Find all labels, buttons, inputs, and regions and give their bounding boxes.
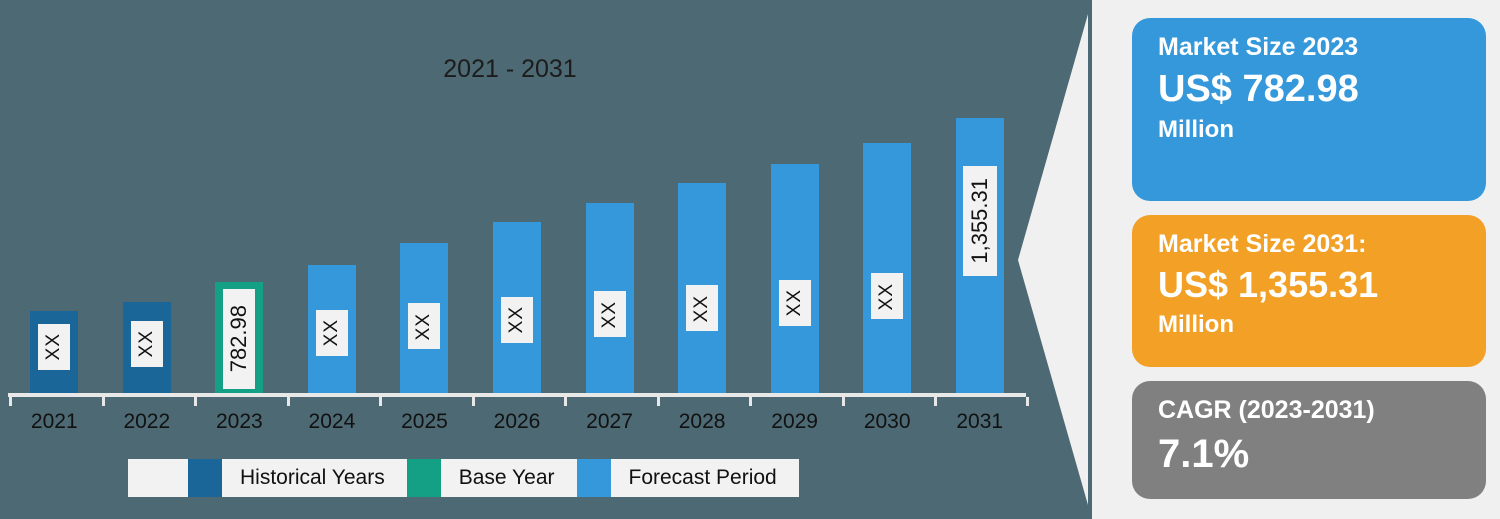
bar-value-label-2021: XX bbox=[38, 324, 70, 370]
x-axis-tick bbox=[194, 397, 197, 406]
x-axis-label-2031: 2031 bbox=[934, 410, 1026, 434]
x-axis-label-2026: 2026 bbox=[471, 410, 563, 434]
bar-slot: XX bbox=[30, 100, 78, 395]
bar-value-label-2024: XX bbox=[316, 310, 348, 356]
x-axis-label-2030: 2030 bbox=[841, 410, 933, 434]
x-axis-tick bbox=[934, 397, 937, 406]
card-title: Market Size 2031: bbox=[1158, 229, 1464, 260]
card-title: Market Size 2023 bbox=[1158, 32, 1464, 63]
bar-slot: XX bbox=[123, 100, 171, 395]
card-market-size-2031: Market Size 2031: US$ 1,355.31 Million bbox=[1132, 215, 1486, 367]
bar-slot: XX bbox=[493, 100, 541, 395]
x-axis-tick bbox=[564, 397, 567, 406]
x-axis-tick bbox=[9, 397, 12, 406]
bar-slot: XX bbox=[308, 100, 356, 395]
x-axis-label-2027: 2027 bbox=[564, 410, 656, 434]
x-axis-label-2029: 2029 bbox=[749, 410, 841, 434]
card-cagr: CAGR (2023-2031) 7.1% bbox=[1132, 381, 1486, 499]
card-title: CAGR (2023-2031) bbox=[1158, 395, 1464, 426]
x-axis-tick bbox=[1026, 397, 1029, 406]
x-axis-tick bbox=[379, 397, 382, 406]
bar-slot: XX bbox=[771, 100, 819, 395]
x-axis-line bbox=[8, 393, 1026, 397]
x-axis-tick bbox=[287, 397, 290, 406]
x-axis-tick bbox=[657, 397, 660, 406]
bar-value-label-2025: XX bbox=[408, 303, 440, 349]
bar-slot: XX bbox=[863, 100, 911, 395]
card-unit: Million bbox=[1158, 114, 1464, 145]
bar-value-label-2022: XX bbox=[131, 321, 163, 367]
legend-label-forecast[interactable]: Forecast Period bbox=[611, 459, 799, 497]
chevron-arrow-icon bbox=[996, 0, 1092, 519]
chart-title: 2021 - 2031 bbox=[0, 55, 1020, 84]
x-axis-label-2025: 2025 bbox=[378, 410, 470, 434]
card-unit: Million bbox=[1158, 309, 1464, 340]
bar-value-label-2027: XX bbox=[594, 291, 626, 337]
bar-2030[interactable] bbox=[863, 143, 911, 395]
card-value: US$ 782.98 bbox=[1158, 67, 1464, 112]
bar-value-label-2030: XX bbox=[871, 273, 903, 319]
chart-panel: 2021 - 2031 XXXX782.98XXXXXXXXXXXXXX1,35… bbox=[0, 0, 1092, 519]
bar-value-label-2028: XX bbox=[686, 285, 718, 331]
summary-cards-panel: Market Size 2023 US$ 782.98 Million Mark… bbox=[1092, 0, 1500, 519]
x-axis-label-2023: 2023 bbox=[193, 410, 285, 434]
bar-value-label-2029: XX bbox=[779, 280, 811, 326]
bar-value-label-2031: 1,355.31 bbox=[963, 166, 997, 276]
chart-legend: Historical YearsBase YearForecast Period bbox=[128, 459, 799, 497]
legend-swatch-base[interactable] bbox=[407, 459, 441, 497]
card-value: 7.1% bbox=[1158, 430, 1464, 478]
bar-slot: XX bbox=[400, 100, 448, 395]
legend-swatch-historical[interactable] bbox=[188, 459, 222, 497]
x-axis-label-2024: 2024 bbox=[286, 410, 378, 434]
x-axis-tick bbox=[102, 397, 105, 406]
legend-label-historical[interactable]: Historical Years bbox=[222, 459, 407, 497]
market-size-infographic: 2021 - 2031 XXXX782.98XXXXXXXXXXXXXX1,35… bbox=[0, 0, 1500, 519]
bar-slot: 782.98 bbox=[215, 100, 263, 395]
bar-slot: XX bbox=[586, 100, 634, 395]
bar-slot: XX bbox=[678, 100, 726, 395]
bar-plot-area: XXXX782.98XXXXXXXXXXXXXX1,355.31 bbox=[8, 100, 1026, 395]
legend-spacer bbox=[128, 459, 188, 497]
bar-value-label-2026: XX bbox=[501, 297, 533, 343]
x-axis-label-2022: 2022 bbox=[101, 410, 193, 434]
x-axis-label-2021: 2021 bbox=[8, 410, 100, 434]
bar-value-label-2023: 782.98 bbox=[223, 289, 255, 389]
x-axis-tick bbox=[749, 397, 752, 406]
x-axis-label-2028: 2028 bbox=[656, 410, 748, 434]
legend-swatch-forecast[interactable] bbox=[577, 459, 611, 497]
card-value: US$ 1,355.31 bbox=[1158, 264, 1464, 306]
legend-label-base[interactable]: Base Year bbox=[441, 459, 577, 497]
x-axis-tick bbox=[842, 397, 845, 406]
card-market-size-2023: Market Size 2023 US$ 782.98 Million bbox=[1132, 18, 1486, 201]
x-axis-tick bbox=[472, 397, 475, 406]
